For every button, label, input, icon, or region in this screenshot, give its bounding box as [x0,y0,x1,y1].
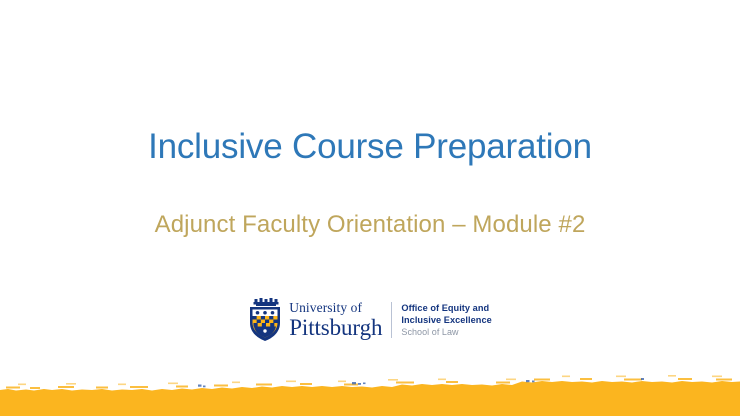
gold-brush-band [0,368,740,416]
page-title: Inclusive Course Preparation [0,126,740,167]
unit-name-school: School of Law [401,326,458,338]
unit-name-block: Office of Equity and Inclusive Excellenc… [401,302,491,339]
slide-canvas: Inclusive Course Preparation Adjunct Fac… [0,0,740,416]
unit-name-line-1: Office of Equity and [401,302,489,314]
logo-lockup: University of Pittsburgh Office of Equit… [0,298,740,342]
wordmark-pittsburgh: Pittsburgh [289,316,382,339]
title-block: Inclusive Course Preparation [0,126,740,167]
logo-inner: University of Pittsburgh Office of Equit… [248,298,492,342]
pitt-shield-crest-icon [248,298,282,342]
wordmark: University of Pittsburgh [289,301,382,339]
logo-divider [391,302,392,338]
unit-name-line-2: Inclusive Excellence [401,314,491,326]
page-subtitle: Adjunct Faculty Orientation – Module #2 [0,211,740,240]
subtitle-block: Adjunct Faculty Orientation – Module #2 [0,211,740,240]
wordmark-university-of: University of [289,301,362,315]
